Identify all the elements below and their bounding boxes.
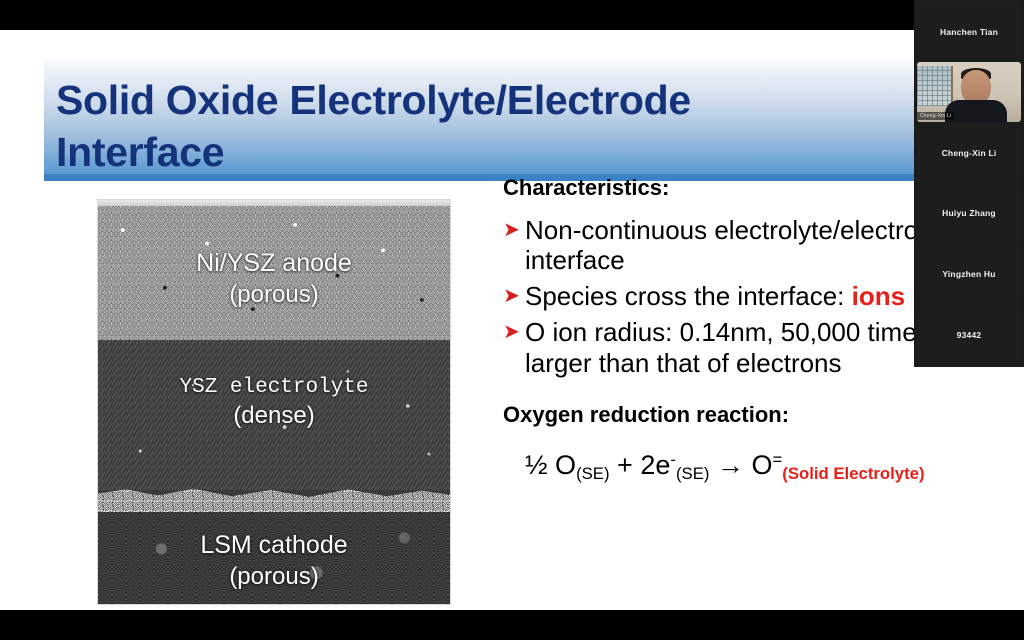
presentation-slide: Solid Oxide Electrolyte/Electrode Interf…	[0, 30, 1024, 610]
sem-layer-cathode	[98, 512, 450, 604]
participant-name: Cheng-Xin Li	[917, 148, 1021, 158]
participant-name: Hanchen Tian	[917, 27, 1021, 37]
eq-arrow: →	[717, 450, 744, 480]
characteristics-heading: Characteristics:	[503, 175, 963, 201]
bullet-arrow-icon: ➤	[503, 215, 525, 240]
bullet-item: ➤ Non-continuous electrolyte/electrode i…	[503, 215, 963, 275]
eq-half: ½	[525, 450, 548, 480]
eq-oxygen: O	[555, 450, 576, 480]
eq-electrons-sub: (SE)	[676, 464, 709, 483]
slide-body-text: Characteristics: ➤ Non-continuous electr…	[503, 175, 963, 481]
participant-name: Huiyu Zhang	[917, 208, 1021, 218]
bullet-emphasis: ions	[852, 281, 905, 311]
participant-tile[interactable]: Yingzhen Hu	[917, 244, 1021, 304]
orr-heading: Oxygen reduction reaction:	[503, 402, 963, 428]
participant-face	[961, 70, 991, 104]
eq-product: O	[751, 450, 772, 480]
page-title: Solid Oxide Electrolyte/Electrode Interf…	[56, 74, 936, 178]
eq-electrons: 2e	[640, 450, 670, 480]
zoom-participant-panel[interactable]: Hanchen Tian Cheng-Xin Li Cheng-Xin Li H…	[914, 0, 1024, 367]
bullet-item: ➤ Species cross the interface: ions	[503, 281, 963, 311]
participant-name: 93442	[917, 330, 1021, 340]
window-blinds	[917, 66, 953, 106]
video-name-badge: Cheng-Xin Li	[917, 112, 954, 120]
bullet-text: Species cross the interface:	[525, 281, 844, 311]
reaction-equation: ½ O(SE) + 2e-(SE) → O=(Solid Electrolyte…	[525, 450, 963, 481]
bullet-item: ➤ O ion radius: 0.14nm, 50,000 times lar…	[503, 317, 963, 377]
bullet-arrow-icon: ➤	[503, 281, 525, 306]
participant-tile[interactable]: 93442	[917, 305, 1021, 365]
participant-tile[interactable]: Hanchen Tian	[917, 2, 1021, 62]
bullet-text-group: Species cross the interface: ions	[525, 281, 905, 311]
sem-micrograph: Ni/YSZ anode (porous) YSZ electrolyte (d…	[98, 200, 450, 604]
participant-tile[interactable]: Huiyu Zhang	[917, 183, 1021, 243]
participant-tile-video[interactable]: Cheng-Xin Li	[917, 62, 1021, 122]
sem-layer-anode	[98, 206, 450, 340]
eq-product-sup: =	[772, 450, 782, 469]
eq-oxygen-sub: (SE)	[576, 464, 609, 483]
eq-plus: +	[617, 450, 633, 480]
participant-name: Yingzhen Hu	[917, 269, 1021, 279]
bullet-text: Non-continuous electrolyte/electrode int…	[525, 215, 963, 275]
eq-product-sub: (Solid Electrolyte)	[782, 464, 924, 483]
screen: Solid Oxide Electrolyte/Electrode Interf…	[0, 0, 1024, 640]
sem-layer-electrolyte	[98, 340, 450, 490]
bullet-text: O ion radius: 0.14nm, 50,000 times large…	[525, 317, 963, 377]
bullet-arrow-icon: ➤	[503, 317, 525, 342]
participant-tile[interactable]: Cheng-Xin Li	[917, 123, 1021, 183]
